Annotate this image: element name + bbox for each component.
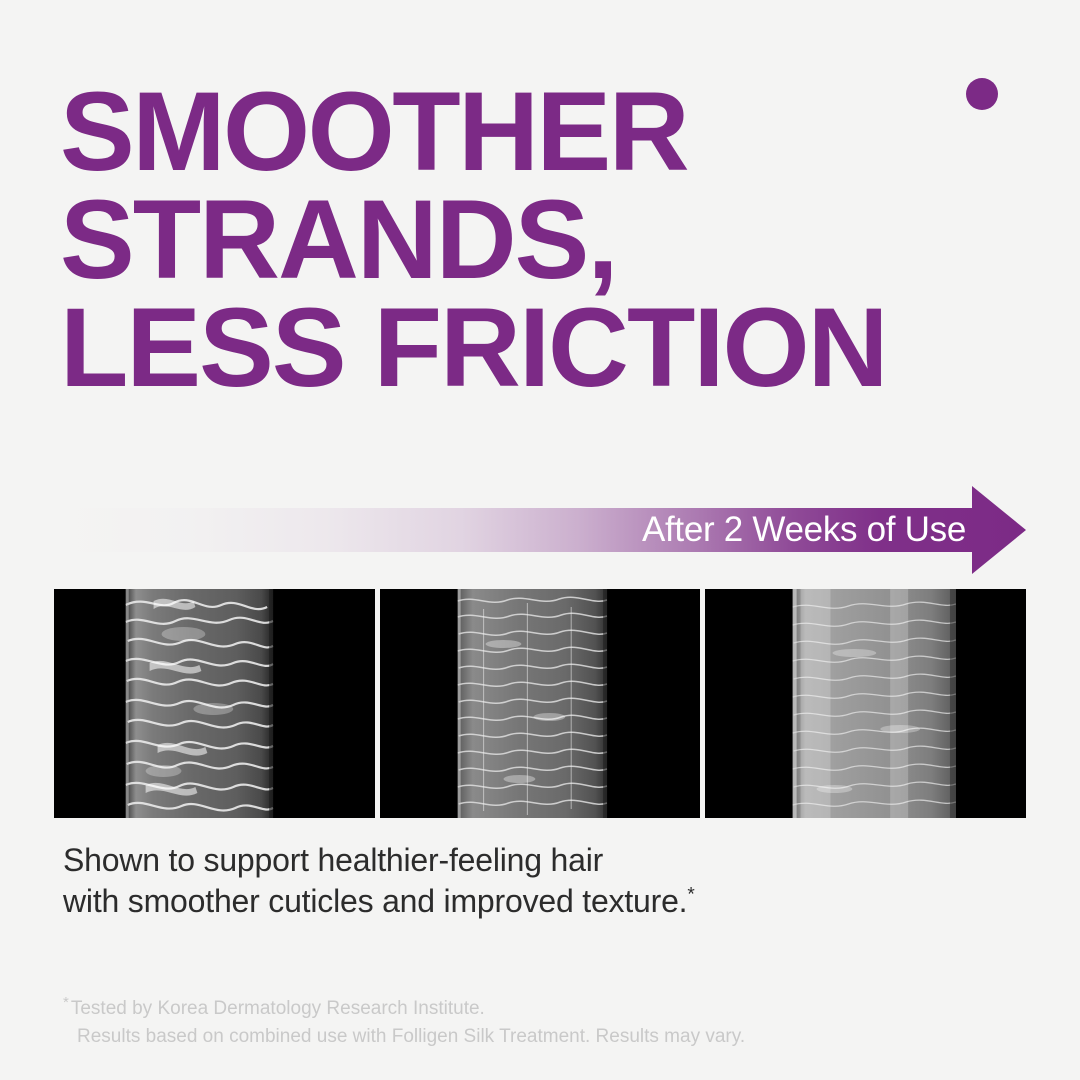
headline-line-3: LESS FRICTION [60, 294, 960, 402]
footnote-asterisk: * [63, 994, 69, 1011]
sem-panel-hair-strand-before [54, 589, 375, 818]
body-copy: Shown to support healthier-feeling hair … [63, 840, 943, 922]
arrow-banner-label: After 2 Weeks of Use [642, 486, 966, 574]
headline-line-2: STRANDS, [60, 186, 960, 294]
headline-line-1: SMOOTHER [60, 78, 960, 186]
body-copy-line-2-wrapper: with smoother cuticles and improved text… [63, 881, 943, 922]
sem-panel-hair-strand-mid [380, 589, 701, 818]
hair-strand-before-icon [54, 589, 375, 818]
footnote-line-1: Tested by Korea Dermatology Research Ins… [71, 998, 485, 1019]
body-copy-line-2: with smoother cuticles and improved text… [63, 883, 687, 919]
hair-strand-mid-icon [380, 589, 701, 818]
hair-strand-after-icon [705, 589, 1026, 818]
sem-image-row [54, 589, 1026, 818]
footnote-line-2: Results based on combined use with Folli… [63, 1023, 983, 1051]
ad-creative-canvas: SMOOTHER STRANDS, LESS FRICTION [0, 0, 1080, 1080]
body-copy-line-1: Shown to support healthier-feeling hair [63, 840, 943, 881]
page-title: SMOOTHER STRANDS, LESS FRICTION [60, 78, 960, 402]
footnote-line-1-wrapper: *Tested by Korea Dermatology Research In… [63, 995, 983, 1023]
sem-panel-hair-strand-after [705, 589, 1026, 818]
decorative-purple-dot-icon [966, 78, 998, 110]
body-copy-asterisk: * [687, 884, 694, 905]
footnote-disclaimer: *Tested by Korea Dermatology Research In… [63, 995, 983, 1051]
progress-arrow-banner: After 2 Weeks of Use [54, 486, 1026, 574]
